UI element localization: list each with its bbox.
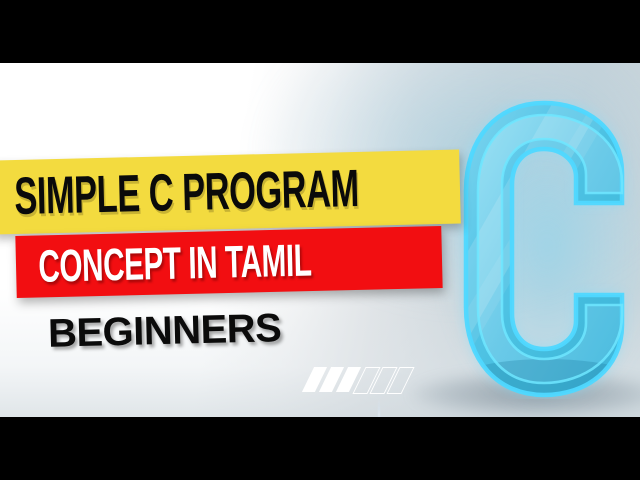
letterbox-bar-bottom bbox=[0, 417, 640, 480]
thumbnail-artwork: SIMPLE C PROGRAM CONCEPT IN TAMIL BEGINN… bbox=[0, 63, 640, 417]
title-line-1: SIMPLE C PROGRAM bbox=[0, 159, 359, 227]
letterbox-bar-top bbox=[0, 0, 640, 63]
letter-c-icon bbox=[452, 99, 640, 399]
title-line-3: BEGINNERS bbox=[47, 306, 281, 356]
title-banner-primary: SIMPLE C PROGRAM bbox=[0, 149, 461, 234]
title-line-3-wrap: BEGINNERS bbox=[47, 306, 281, 357]
c-language-logo bbox=[452, 99, 640, 399]
youtube-thumbnail: SIMPLE C PROGRAM CONCEPT IN TAMIL BEGINN… bbox=[0, 0, 640, 480]
title-banner-secondary: CONCEPT IN TAMIL bbox=[15, 226, 442, 298]
title-line-2: CONCEPT IN TAMIL bbox=[15, 234, 312, 293]
diagonal-stripes-decoration bbox=[308, 365, 412, 399]
